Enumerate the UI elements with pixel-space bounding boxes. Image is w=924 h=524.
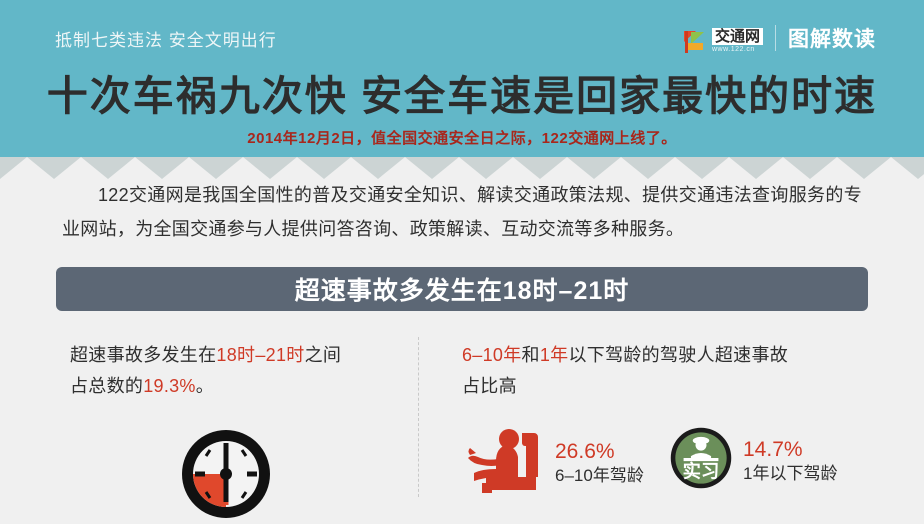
stat-under-1-year: 实习 14.7% 1年以下驾龄	[668, 425, 837, 496]
brand-logo: 交通网 www.122.cn	[683, 22, 763, 54]
right-lead-line-2: 占比高	[462, 371, 882, 402]
brand-wordmark: 交通网 www.122.cn	[712, 28, 763, 54]
left-line2-pre: 占总数的	[70, 376, 143, 396]
header-banner: 抵制七类违法 安全文明出行 交通网 www.122.cn 图解数读 十次车祸九次…	[0, 0, 924, 157]
left-column: 超速事故多发生在18时–21时之间 占总数的19.3%。	[56, 340, 406, 402]
left-line2-post: 。	[196, 376, 214, 396]
right-line1-mid: 和	[522, 345, 540, 365]
brand-tagline: 图解数读	[788, 23, 876, 53]
stat-b-label: 1年以下驾龄	[743, 462, 837, 485]
infographic-page: 抵制七类违法 安全文明出行 交通网 www.122.cn 图解数读 十次车祸九次…	[0, 0, 924, 524]
left-line1-post: 之间	[305, 345, 342, 365]
stat-a-text: 26.6% 6–10年驾龄	[555, 439, 644, 487]
brand-divider	[775, 25, 776, 51]
left-line1-pre: 超速事故多发生在	[70, 345, 216, 365]
header-date-line: 2014年12月2日，值全国交通安全日之际，122交通网上线了。	[0, 127, 924, 148]
clock-icon-wrap	[176, 424, 276, 524]
stat-6-10-years: 26.6% 6–10年驾龄	[466, 425, 644, 500]
brand-lockup: 交通网 www.122.cn 图解数读	[683, 22, 876, 54]
right-column: 6–10年和1年以下驾龄的驾驶人超速事故 占比高	[462, 340, 882, 402]
stat-a-percent: 26.6%	[555, 439, 644, 464]
header-kicker: 抵制七类违法 安全文明出行	[55, 26, 277, 51]
brand-url: www.122.cn	[712, 45, 755, 54]
left-line2-highlight: 19.3%	[143, 376, 196, 396]
intro-paragraph: 122交通网是我国全国性的普及交通安全知识、解读交通政策法规、提供交通违法查询服…	[62, 178, 862, 246]
brand-name: 交通网	[712, 28, 763, 45]
left-line1-highlight: 18时–21时	[216, 345, 304, 365]
seated-driver-icon	[466, 425, 546, 500]
flag-logo-icon	[683, 30, 709, 54]
right-line1-highlight-a: 6–10年	[462, 345, 522, 365]
stat-b-percent: 14.7%	[743, 437, 837, 462]
left-lead-line-2: 占总数的19.3%。	[56, 371, 406, 402]
zigzag-divider	[0, 157, 924, 179]
section-banner-title: 超速事故多发生在18时–21时	[295, 271, 630, 307]
trainee-badge-text: 实习	[683, 460, 720, 481]
right-line1-highlight-b: 1年	[540, 345, 569, 365]
stat-b-text: 14.7% 1年以下驾龄	[743, 437, 837, 485]
left-lead-line-1: 超速事故多发生在18时–21时之间	[56, 340, 406, 371]
stat-a-label: 6–10年驾龄	[555, 464, 644, 487]
clock-icon	[176, 424, 276, 524]
page-title: 十次车祸九次快 安全车速是回家最快的时速	[0, 62, 924, 122]
trainee-badge-icon: 实习	[668, 425, 734, 496]
right-line1-post: 以下驾龄的驾驶人超速事故	[568, 345, 788, 365]
section-banner: 超速事故多发生在18时–21时	[56, 267, 868, 311]
column-divider	[418, 337, 419, 497]
right-lead-line-1: 6–10年和1年以下驾龄的驾驶人超速事故	[462, 340, 882, 371]
